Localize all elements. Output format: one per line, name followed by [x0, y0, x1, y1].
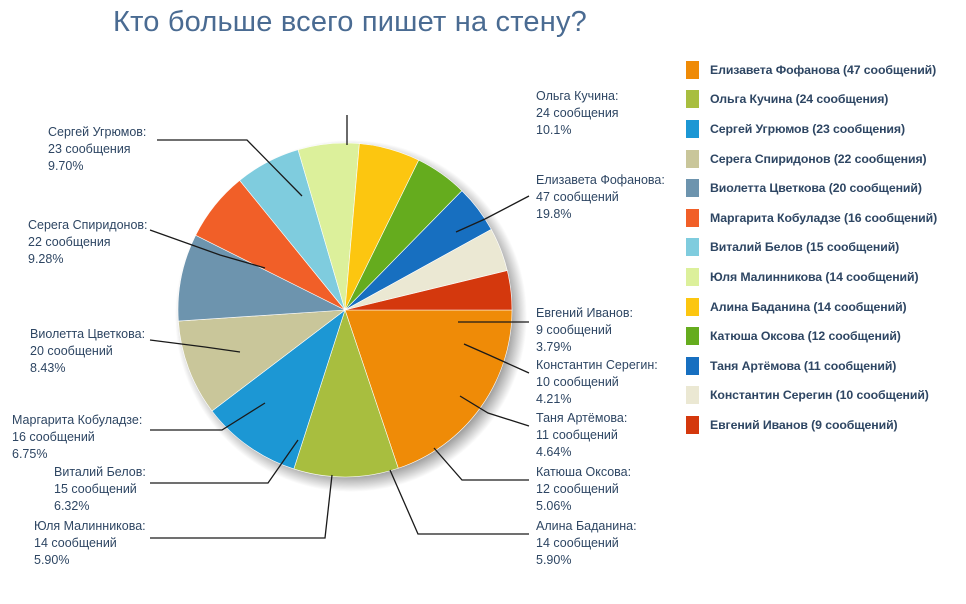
callout-line: Ольга Кучина:	[536, 88, 619, 105]
callout-line: 19.8%	[536, 206, 665, 223]
legend-item[interactable]: Катюша Оксова (12 сообщений)	[686, 321, 966, 351]
legend: Елизавета Фофанова (47 сообщений)Ольга К…	[686, 55, 966, 440]
legend-color-swatch	[686, 120, 699, 138]
legend-item[interactable]: Виолетта Цветкова (20 сообщений)	[686, 173, 966, 203]
legend-item-label: Маргарита Кобуладзе (16 сообщений)	[710, 211, 937, 225]
legend-item-label: Катюша Оксова (12 сообщений)	[710, 329, 901, 343]
callout-line: 12 сообщений	[536, 481, 631, 498]
callout-line: Юля Малинникова:	[34, 518, 146, 535]
callout-sergey-ugryumov: Сергей Угрюмов:23 сообщения9.70%	[48, 124, 146, 175]
callout-line: 23 сообщения	[48, 141, 146, 158]
callout-line: Таня Артёмова:	[536, 410, 627, 427]
callout-margarita-kobuladze: Маргарита Кобуладзе:16 сообщений6.75%	[12, 412, 142, 463]
callout-line: Серега Спиридонов:	[28, 217, 148, 234]
legend-item[interactable]: Ольга Кучина (24 сообщения)	[686, 85, 966, 115]
callout-alina-badanina: Алина Баданина:14 сообщений5.90%	[536, 518, 637, 569]
legend-item[interactable]: Серега Спиридонов (22 сообщения)	[686, 144, 966, 174]
legend-item-label: Виталий Белов (15 сообщений)	[710, 240, 899, 254]
callout-line: 5.90%	[536, 552, 637, 569]
legend-color-swatch	[686, 150, 699, 168]
callout-line: 10.1%	[536, 122, 619, 139]
callout-line: 14 сообщений	[536, 535, 637, 552]
callout-line: Сергей Угрюмов:	[48, 124, 146, 141]
legend-color-swatch	[686, 90, 699, 108]
callout-line: 4.64%	[536, 444, 627, 461]
callout-vitaliy-belov: Виталий Белов:15 сообщений6.32%	[54, 464, 146, 515]
callout-line: 4.21%	[536, 391, 658, 408]
callout-line: 6.75%	[12, 446, 142, 463]
legend-item-label: Елизавета Фофанова (47 сообщений)	[710, 63, 936, 77]
legend-item-label: Таня Артёмова (11 сообщений)	[710, 359, 896, 373]
callout-line: 16 сообщений	[12, 429, 142, 446]
callout-line: 8.43%	[30, 360, 145, 377]
callout-konstantin-seregin: Константин Серегин:10 сообщений4.21%	[536, 357, 658, 408]
legend-item-label: Евгений Иванов (9 сообщений)	[710, 418, 898, 432]
callout-line: 9 сообщений	[536, 322, 633, 339]
callout-elizaveta-fofanova: Елизавета Фофанова:47 сообщений19.8%	[536, 172, 665, 223]
legend-color-swatch	[686, 357, 699, 375]
legend-item[interactable]: Сергей Угрюмов (23 сообщения)	[686, 114, 966, 144]
callout-violetta-tsvetkova: Виолетта Цветкова:20 сообщений8.43%	[30, 326, 145, 377]
callout-line: Маргарита Кобуладзе:	[12, 412, 142, 429]
pie-chart-figure: Кто больше всего пишет на стену? Ольга К…	[0, 0, 966, 604]
callout-line: Алина Баданина:	[536, 518, 637, 535]
legend-item[interactable]: Константин Серегин (10 сообщений)	[686, 381, 966, 411]
callout-line: 20 сообщений	[30, 343, 145, 360]
callout-yulya-malinnikova: Юля Малинникова:14 сообщений5.90%	[34, 518, 146, 569]
legend-item[interactable]: Елизавета Фофанова (47 сообщений)	[686, 55, 966, 85]
legend-item[interactable]: Алина Баданина (14 сообщений)	[686, 292, 966, 322]
legend-item-label: Константин Серегин (10 сообщений)	[710, 388, 929, 402]
legend-color-swatch	[686, 268, 699, 286]
callout-line: 47 сообщений	[536, 189, 665, 206]
callout-serega-spiridonov: Серега Спиридонов:22 сообщения9.28%	[28, 217, 148, 268]
legend-item-label: Серега Спиридонов (22 сообщения)	[710, 152, 927, 166]
callout-line: 6.32%	[54, 498, 146, 515]
callout-line: 22 сообщения	[28, 234, 148, 251]
callout-line: 14 сообщений	[34, 535, 146, 552]
legend-color-swatch	[686, 298, 699, 316]
legend-color-swatch	[686, 386, 699, 404]
callout-line: Виолетта Цветкова:	[30, 326, 145, 343]
callout-katyusha-oksova: Катюша Оксова:12 сообщений5.06%	[536, 464, 631, 515]
callout-evgeniy-ivanov: Евгений Иванов:9 сообщений3.79%	[536, 305, 633, 356]
legend-item-label: Виолетта Цветкова (20 сообщений)	[710, 181, 922, 195]
callout-line: Евгений Иванов:	[536, 305, 633, 322]
callout-line: 5.06%	[536, 498, 631, 515]
callout-line: 3.79%	[536, 339, 633, 356]
legend-item-label: Сергей Угрюмов (23 сообщения)	[710, 122, 905, 136]
legend-item-label: Алина Баданина (14 сообщений)	[710, 300, 907, 314]
legend-item[interactable]: Евгений Иванов (9 сообщений)	[686, 410, 966, 440]
callout-line: 15 сообщений	[54, 481, 146, 498]
legend-item[interactable]: Маргарита Кобуладзе (16 сообщений)	[686, 203, 966, 233]
callout-line: 5.90%	[34, 552, 146, 569]
callout-line: Елизавета Фофанова:	[536, 172, 665, 189]
callout-line: Константин Серегин:	[536, 357, 658, 374]
legend-item[interactable]: Виталий Белов (15 сообщений)	[686, 233, 966, 263]
legend-color-swatch	[686, 209, 699, 227]
callout-line: 10 сообщений	[536, 374, 658, 391]
callout-line: 11 сообщений	[536, 427, 627, 444]
callout-olga-kuchina: Ольга Кучина:24 сообщения10.1%	[536, 88, 619, 139]
legend-color-swatch	[686, 61, 699, 79]
legend-color-swatch	[686, 327, 699, 345]
callout-line: Виталий Белов:	[54, 464, 146, 481]
legend-color-swatch	[686, 179, 699, 197]
callout-line: 9.28%	[28, 251, 148, 268]
callout-line: 9.70%	[48, 158, 146, 175]
callout-line: 24 сообщения	[536, 105, 619, 122]
callout-tanya-artemova: Таня Артёмова:11 сообщений4.64%	[536, 410, 627, 461]
legend-item-label: Ольга Кучина (24 сообщения)	[710, 92, 888, 106]
legend-item-label: Юля Малинникова (14 сообщений)	[710, 270, 918, 284]
legend-item[interactable]: Таня Артёмова (11 сообщений)	[686, 351, 966, 381]
legend-item[interactable]: Юля Малинникова (14 сообщений)	[686, 262, 966, 292]
callout-line: Катюша Оксова:	[536, 464, 631, 481]
legend-color-swatch	[686, 238, 699, 256]
legend-color-swatch	[686, 416, 699, 434]
